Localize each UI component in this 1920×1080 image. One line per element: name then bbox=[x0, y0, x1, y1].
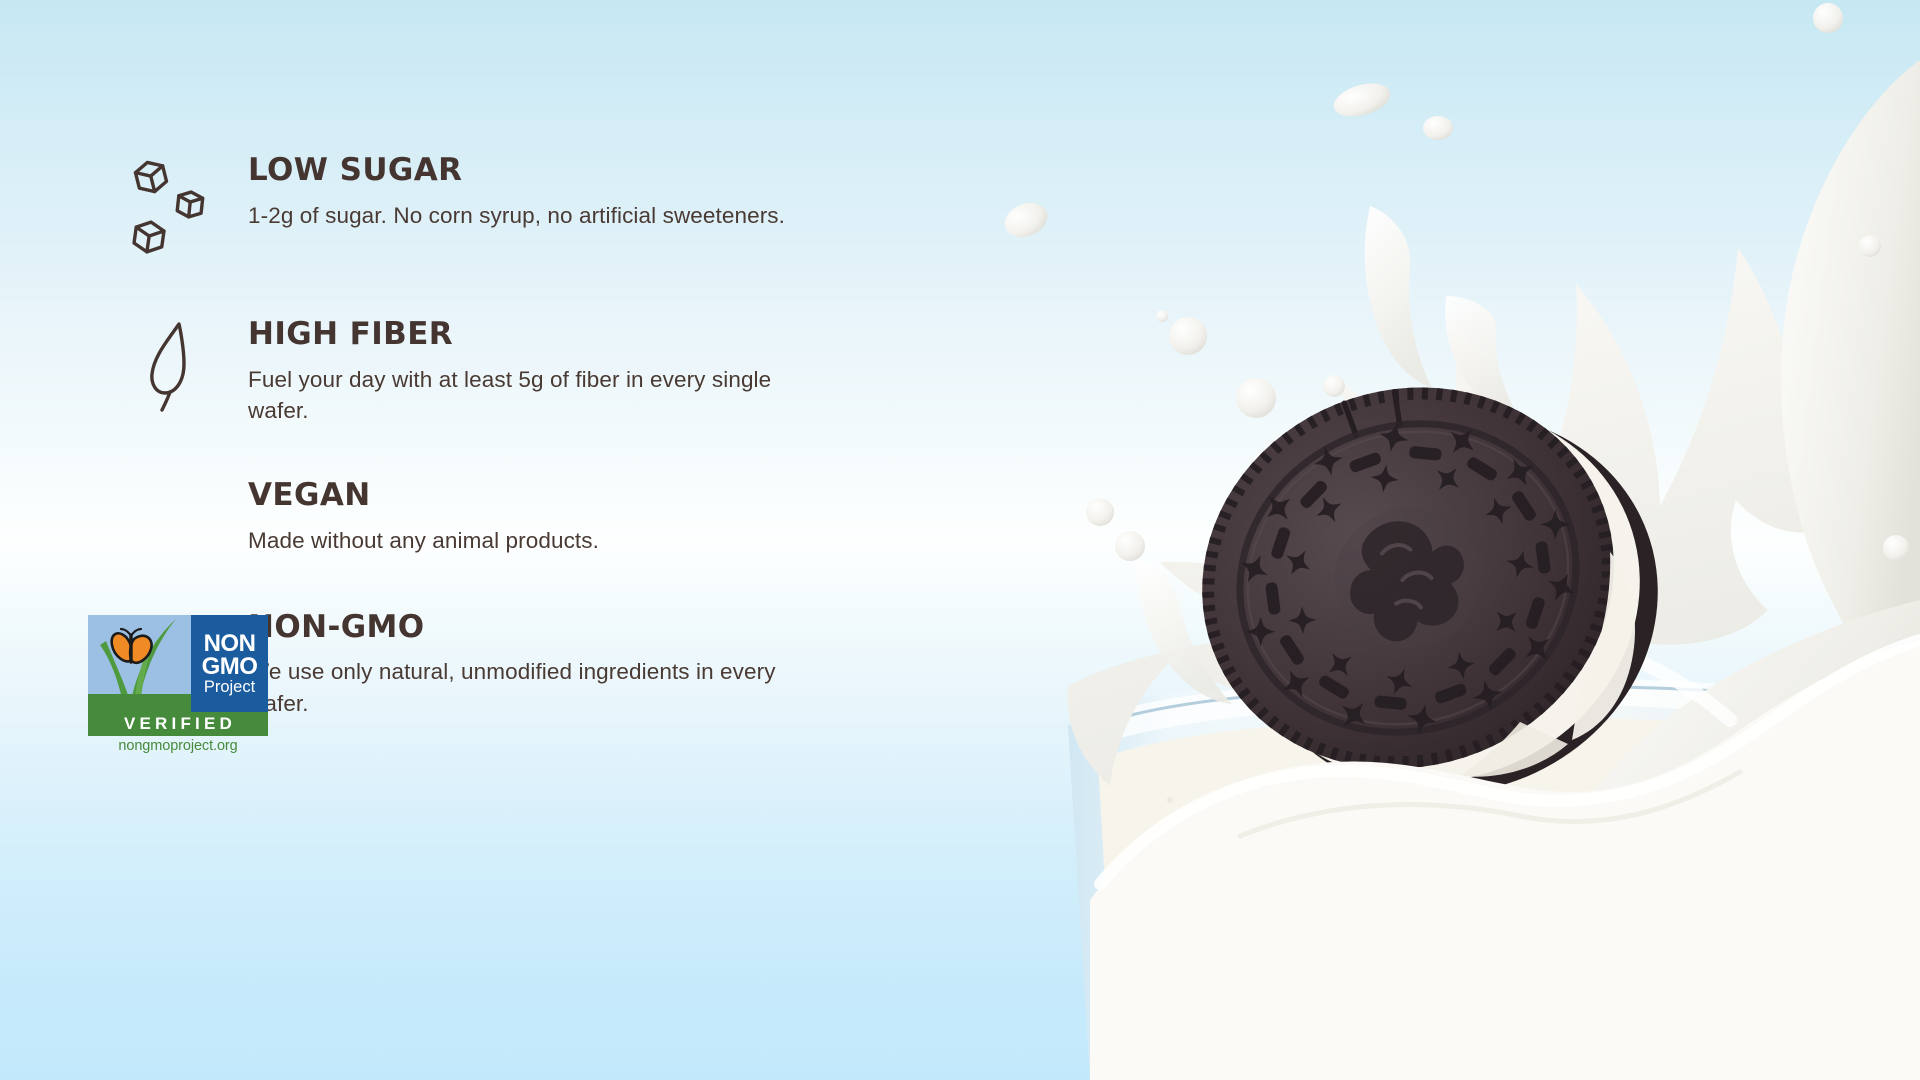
leaf-icon bbox=[143, 320, 213, 412]
benefit-title: NON-GMO bbox=[248, 611, 793, 644]
benefit-item-non-gmo: NON GMO Project VERIFIED nongmoproject.o… bbox=[108, 611, 868, 747]
benefit-title: HIGH FIBER bbox=[248, 318, 793, 351]
non-gmo-project-verified-badge: NON GMO Project VERIFIED nongmoproject.o… bbox=[88, 615, 268, 747]
benefits-list: LOW SUGAR 1-2g of sugar. No corn syrup, … bbox=[108, 152, 868, 747]
benefit-title: VEGAN bbox=[248, 479, 599, 512]
benefit-description: Fuel your day with at least 5g of fiber … bbox=[248, 364, 793, 428]
badge-blue-panel: NON GMO Project bbox=[191, 615, 268, 712]
benefit-icon-slot bbox=[108, 152, 248, 260]
benefit-icon-slot bbox=[108, 316, 248, 412]
benefit-description: 1-2g of sugar. No corn syrup, no artific… bbox=[248, 200, 785, 232]
badge-line-project: Project bbox=[204, 679, 255, 695]
benefit-item-low-sugar: LOW SUGAR 1-2g of sugar. No corn syrup, … bbox=[108, 152, 868, 260]
badge-butterfly-panel bbox=[88, 615, 191, 712]
benefit-icon-slot bbox=[108, 479, 248, 483]
product-photo-milk-splash bbox=[940, 0, 1920, 1080]
badge-line-non: NON bbox=[204, 632, 256, 655]
benefit-text-block: HIGH FIBER Fuel your day with at least 5… bbox=[248, 316, 793, 427]
milk-splash-illustration bbox=[940, 0, 1920, 1080]
benefit-text-block: NON-GMO We use only natural, unmodified … bbox=[248, 611, 793, 720]
badge-verified-bar: VERIFIED bbox=[88, 712, 268, 736]
badge-url: nongmoproject.org bbox=[88, 738, 268, 754]
benefit-item-high-fiber: HIGH FIBER Fuel your day with at least 5… bbox=[108, 316, 868, 427]
badge-main: NON GMO Project bbox=[88, 615, 268, 712]
benefit-item-vegan: VEGAN Made without any animal products. bbox=[108, 479, 868, 556]
benefit-icon-slot: NON GMO Project VERIFIED nongmoproject.o… bbox=[108, 611, 248, 747]
badge-green-strip bbox=[88, 694, 191, 712]
benefit-description: Made without any animal products. bbox=[248, 525, 599, 557]
benefit-text-block: VEGAN Made without any animal products. bbox=[248, 479, 599, 556]
badge-line-gmo: GMO bbox=[202, 655, 258, 678]
sugar-cubes-icon bbox=[130, 156, 226, 260]
benefit-description: We use only natural, unmodified ingredie… bbox=[248, 656, 793, 720]
benefit-text-block: LOW SUGAR 1-2g of sugar. No corn syrup, … bbox=[248, 152, 785, 231]
benefit-title: LOW SUGAR bbox=[248, 154, 785, 187]
